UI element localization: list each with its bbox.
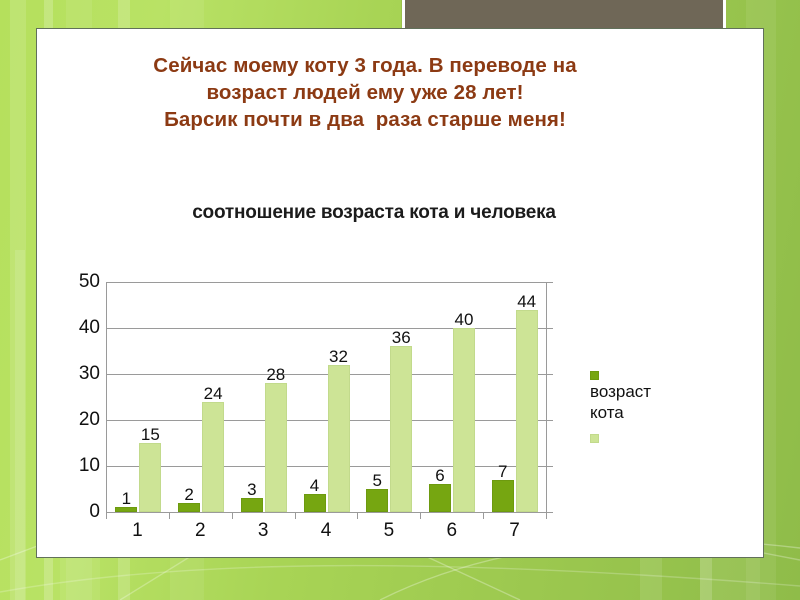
bar-value-label: 32 — [329, 348, 348, 365]
bar-group: 115 — [107, 282, 170, 512]
x-axis-tick — [357, 513, 358, 519]
y-axis-tick-labels: 01020304050 — [60, 282, 100, 512]
bar: 40 — [453, 328, 475, 512]
legend-label-line: возраст — [590, 381, 730, 402]
y-axis-tick-label: 30 — [79, 363, 100, 385]
x-axis-tick-label: 6 — [420, 520, 483, 542]
bar-value-label: 5 — [373, 472, 382, 489]
right-axis-tick — [546, 282, 553, 283]
bar-value-label: 36 — [392, 329, 411, 346]
headline-line-2: возраст людей ему уже 28 лет! — [60, 79, 670, 106]
plot-area: 115224328432536640744 — [106, 282, 546, 512]
bar: 2 — [178, 503, 200, 512]
bar-group: 536 — [358, 282, 421, 512]
bar-value-label: 3 — [247, 481, 256, 498]
legend-item[interactable]: возрасткота — [590, 360, 730, 423]
bar-value-label: 24 — [204, 385, 223, 402]
bar-group: 328 — [232, 282, 295, 512]
bar: 36 — [390, 346, 412, 512]
y-axis-tick-label: 20 — [79, 409, 100, 431]
right-axis-ticks — [546, 282, 554, 512]
page-title: Сейчас моему коту 3 года. В переводе на … — [60, 52, 670, 133]
bar-value-label: 6 — [435, 467, 444, 484]
bar: 3 — [241, 498, 263, 512]
bar-groups: 115224328432536640744 — [107, 282, 546, 512]
chart-title: соотношение возраста кота и человека — [44, 202, 704, 224]
y-axis-tick-label: 40 — [79, 317, 100, 339]
bar: 6 — [429, 484, 451, 512]
right-axis-tick — [546, 328, 553, 329]
y-axis-tick-label: 50 — [79, 271, 100, 293]
y-axis-tick-label: 10 — [79, 455, 100, 477]
bar: 5 — [366, 489, 388, 512]
bar: 32 — [328, 365, 350, 512]
legend-swatch — [590, 371, 599, 380]
bar-value-label: 15 — [141, 426, 160, 443]
x-axis-tick — [483, 513, 484, 519]
bar: 24 — [202, 402, 224, 512]
x-axis-tick — [420, 513, 421, 519]
bar-value-label: 1 — [122, 490, 131, 507]
x-axis-tick-label: 7 — [483, 520, 546, 542]
x-axis-tick — [232, 513, 233, 519]
legend-item[interactable] — [590, 423, 730, 447]
bar-value-label: 28 — [266, 366, 285, 383]
x-axis-tick-label: 5 — [357, 520, 420, 542]
x-axis-tick — [106, 513, 107, 519]
bar-group: 744 — [483, 282, 546, 512]
right-axis-tick — [546, 374, 553, 375]
plot-wrapper: 01020304050 115224328432536640744 123456… — [60, 282, 670, 532]
bar: 28 — [265, 383, 287, 512]
headline-line-3: Барсик почти в два раза старше меня! — [60, 106, 670, 133]
bar-chart: соотношение возраста кота и человека 010… — [44, 172, 744, 552]
x-axis-tick — [295, 513, 296, 519]
x-axis-tick — [546, 513, 547, 519]
bar-group: 432 — [295, 282, 358, 512]
right-axis-tick — [546, 420, 553, 421]
legend-label-line: кота — [590, 402, 730, 423]
bar: 7 — [492, 480, 514, 512]
right-axis-tick — [546, 466, 553, 467]
x-axis-tick-label: 2 — [169, 520, 232, 542]
bar-value-label: 7 — [498, 463, 507, 480]
x-axis-tick — [169, 513, 170, 519]
bar-value-label: 44 — [517, 293, 536, 310]
legend-swatch — [590, 434, 599, 443]
right-axis-tick — [546, 512, 553, 513]
bar: 15 — [139, 443, 161, 512]
bar-value-label: 40 — [454, 311, 473, 328]
chart-legend: возрасткота — [590, 360, 730, 447]
bar-value-label: 2 — [184, 486, 193, 503]
bar: 4 — [304, 494, 326, 512]
x-axis-tick-label: 3 — [232, 520, 295, 542]
x-axis-tick-labels: 1234567 — [106, 520, 546, 542]
y-axis-tick-label: 0 — [89, 501, 100, 523]
bar-group: 640 — [421, 282, 484, 512]
bar-group: 224 — [170, 282, 233, 512]
bar: 44 — [516, 310, 538, 512]
legend-label: возрасткота — [590, 381, 730, 423]
headline-line-1: Сейчас моему коту 3 года. В переводе на — [60, 52, 670, 79]
bar-value-label: 4 — [310, 477, 319, 494]
x-axis-tick-label: 4 — [295, 520, 358, 542]
x-axis-tick-label: 1 — [106, 520, 169, 542]
